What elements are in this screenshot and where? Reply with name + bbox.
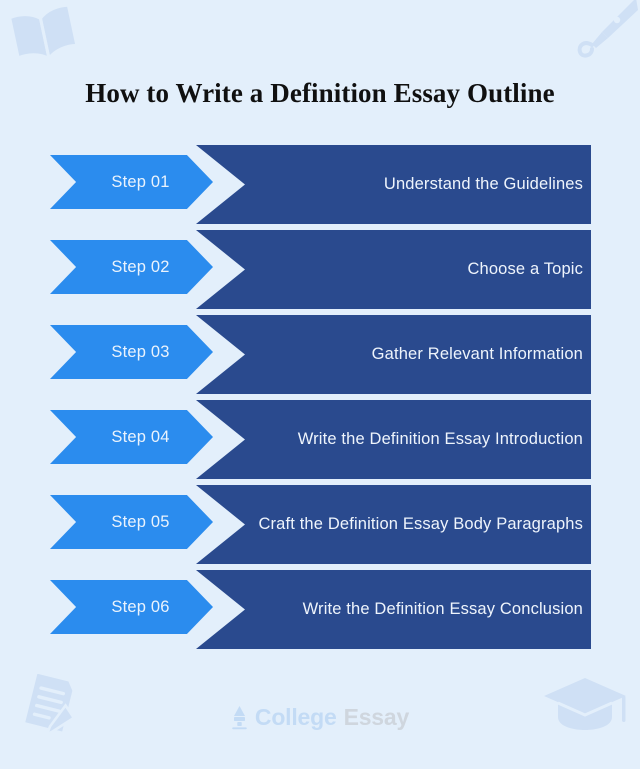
step-description-bar: Choose a Topic [196,230,591,309]
step-description: Understand the Guidelines [384,175,583,194]
step-number: Step 05 [111,513,169,532]
step-number: Step 04 [111,428,169,447]
step-description-bar: Write the Definition Essay Introduction [196,400,591,479]
step-number-badge: Step 02 [50,240,213,294]
pen-nib-icon [231,706,248,730]
brand-logo: CollegeEssay [0,704,640,731]
step-description: Write the Definition Essay Conclusion [303,600,583,619]
steps-list: Understand the Guidelines Step 01 Choose… [0,140,640,650]
step-number: Step 02 [111,258,169,277]
step-row: Write the Definition Essay Introduction … [0,395,640,480]
step-description: Gather Relevant Information [372,345,583,364]
step-number: Step 01 [111,173,169,192]
step-description: Craft the Definition Essay Body Paragrap… [258,515,583,534]
step-description: Choose a Topic [467,260,583,279]
step-description-bar: Gather Relevant Information [196,315,591,394]
step-description-bar: Write the Definition Essay Conclusion [196,570,591,649]
step-number-badge: Step 01 [50,155,213,209]
logo-secondary-text: Essay [344,704,410,731]
open-book-icon [8,4,80,71]
step-number-badge: Step 03 [50,325,213,379]
step-row: Gather Relevant Information Step 03 [0,310,640,395]
step-row: Choose a Topic Step 02 [0,225,640,310]
step-description: Write the Definition Essay Introduction [298,430,583,449]
step-row: Write the Definition Essay Conclusion St… [0,565,640,650]
step-number: Step 03 [111,343,169,362]
page-title: How to Write a Definition Essay Outline [0,78,640,109]
step-description-bar: Craft the Definition Essay Body Paragrap… [196,485,591,564]
step-number: Step 06 [111,598,169,617]
step-number-badge: Step 04 [50,410,213,464]
step-row: Craft the Definition Essay Body Paragrap… [0,480,640,565]
step-description-bar: Understand the Guidelines [196,145,591,224]
step-row: Understand the Guidelines Step 01 [0,140,640,225]
fountain-pen-icon [562,0,638,73]
step-number-badge: Step 06 [50,580,213,634]
logo-primary-text: College [255,704,337,731]
step-number-badge: Step 05 [50,495,213,549]
